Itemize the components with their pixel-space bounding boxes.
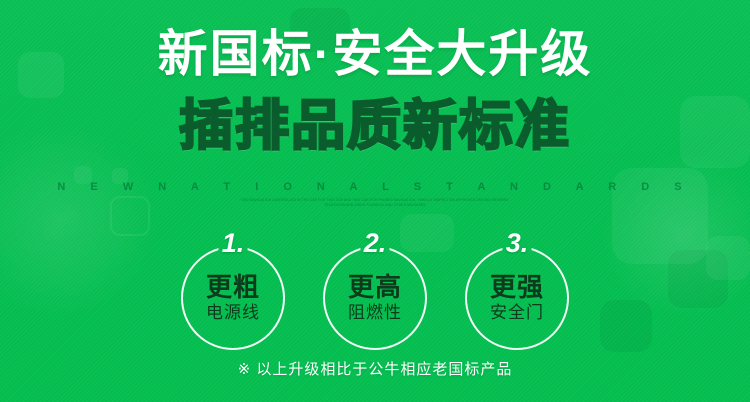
feature-subtitle: 电源线	[181, 302, 285, 324]
feature-text: 更高 阻燃性	[323, 272, 427, 324]
feature-list: 1. 更粗 电源线 2. 更高 阻燃性 3. 更强 安全门	[0, 240, 750, 360]
feature-subtitle: 安全门	[465, 302, 569, 324]
micro-legal-line-2: TELEVISION AND VIDEO PLAYBACK AND OTHER …	[0, 203, 750, 208]
feature-title: 更粗	[181, 272, 285, 302]
footer-note: ※ 以上升级相比于公牛相应老国标产品	[0, 360, 750, 380]
feature-number: 3.	[465, 230, 569, 257]
feature-item-3: 3. 更强 安全门	[465, 246, 569, 350]
micro-legal-text: GNC NAVIGATION CONTROLLED IN THE CAR FOR…	[0, 198, 750, 209]
feature-title: 更强	[465, 272, 569, 302]
promo-banner: 新国标·安全大升级 插排品质新标准 N E W N A T I O N A L …	[0, 0, 750, 402]
feature-text: 更强 安全门	[465, 272, 569, 324]
feature-number: 2.	[323, 230, 427, 257]
feature-subtitle: 阻燃性	[323, 302, 427, 324]
feature-title: 更高	[323, 272, 427, 302]
english-subtitle: N E W N A T I O N A L S T A N D A R D S	[0, 180, 750, 194]
feature-item-1: 1. 更粗 电源线	[181, 246, 285, 350]
feature-item-2: 2. 更高 阻燃性	[323, 246, 427, 350]
page-title: 新国标·安全大升级	[0, 26, 750, 82]
page-subtitle: 插排品质新标准	[0, 96, 750, 156]
feature-text: 更粗 电源线	[181, 272, 285, 324]
feature-number: 1.	[181, 230, 285, 257]
